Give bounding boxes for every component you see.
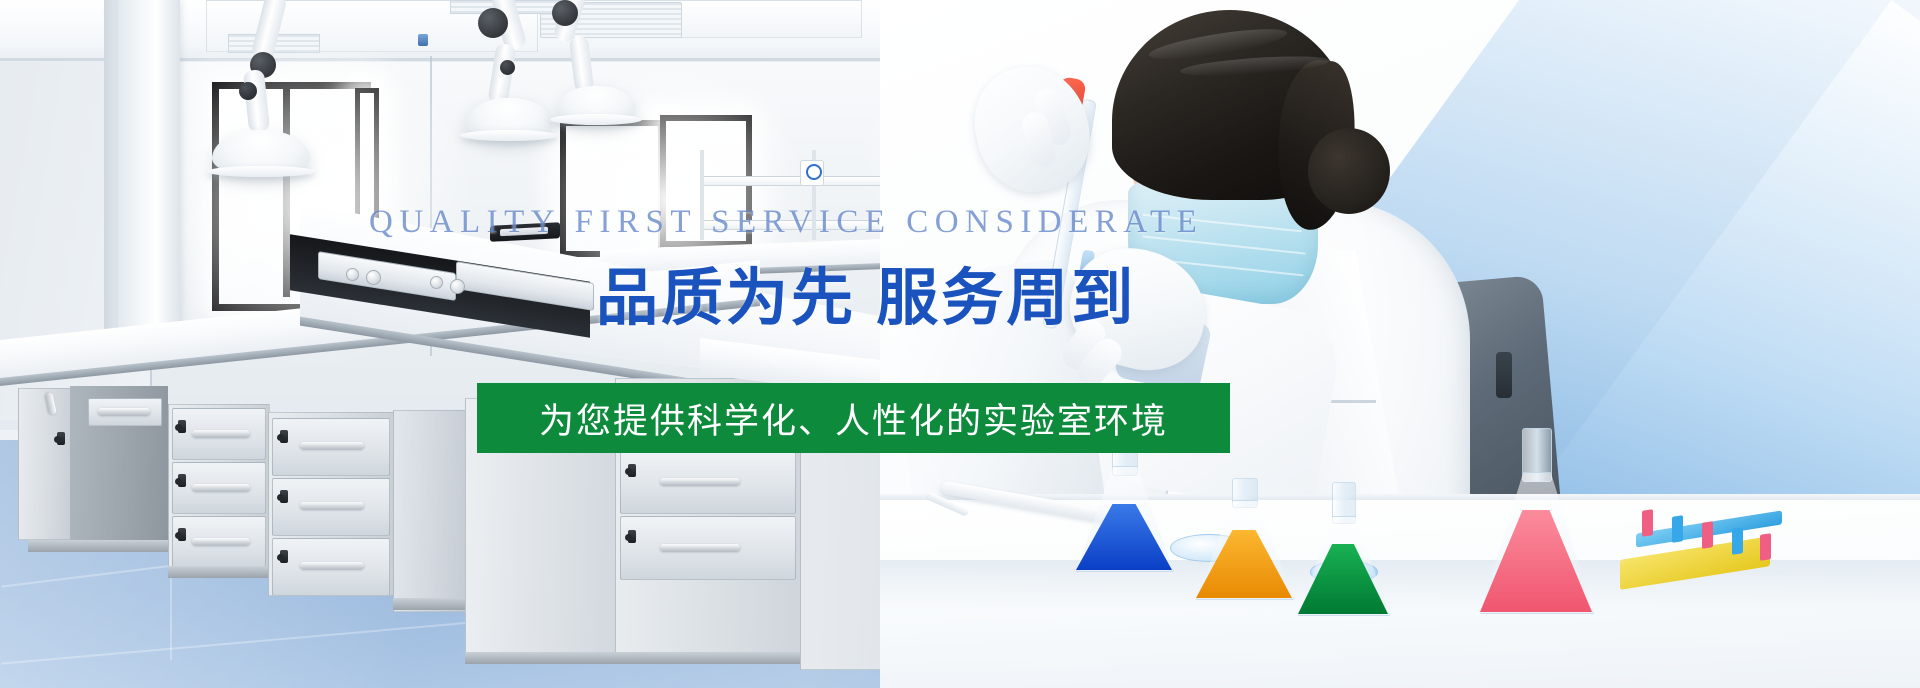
hero-banner: QUALITY FIRST SERVICE CONSIDERATE 品质为先 服… bbox=[0, 0, 1920, 688]
banner-subtitle-bar: 为您提供科学化、人性化的实验室环境 bbox=[477, 383, 1230, 453]
banner-subtitle-text: 为您提供科学化、人性化的实验室环境 bbox=[539, 393, 1168, 444]
banner-headline: 品质为先 服务周到 bbox=[596, 247, 1136, 337]
banner-text-block: QUALITY FIRST SERVICE CONSIDERATE 品质为先 服… bbox=[0, 0, 1920, 688]
banner-eyebrow-text: QUALITY FIRST SERVICE CONSIDERATE bbox=[369, 204, 1203, 241]
